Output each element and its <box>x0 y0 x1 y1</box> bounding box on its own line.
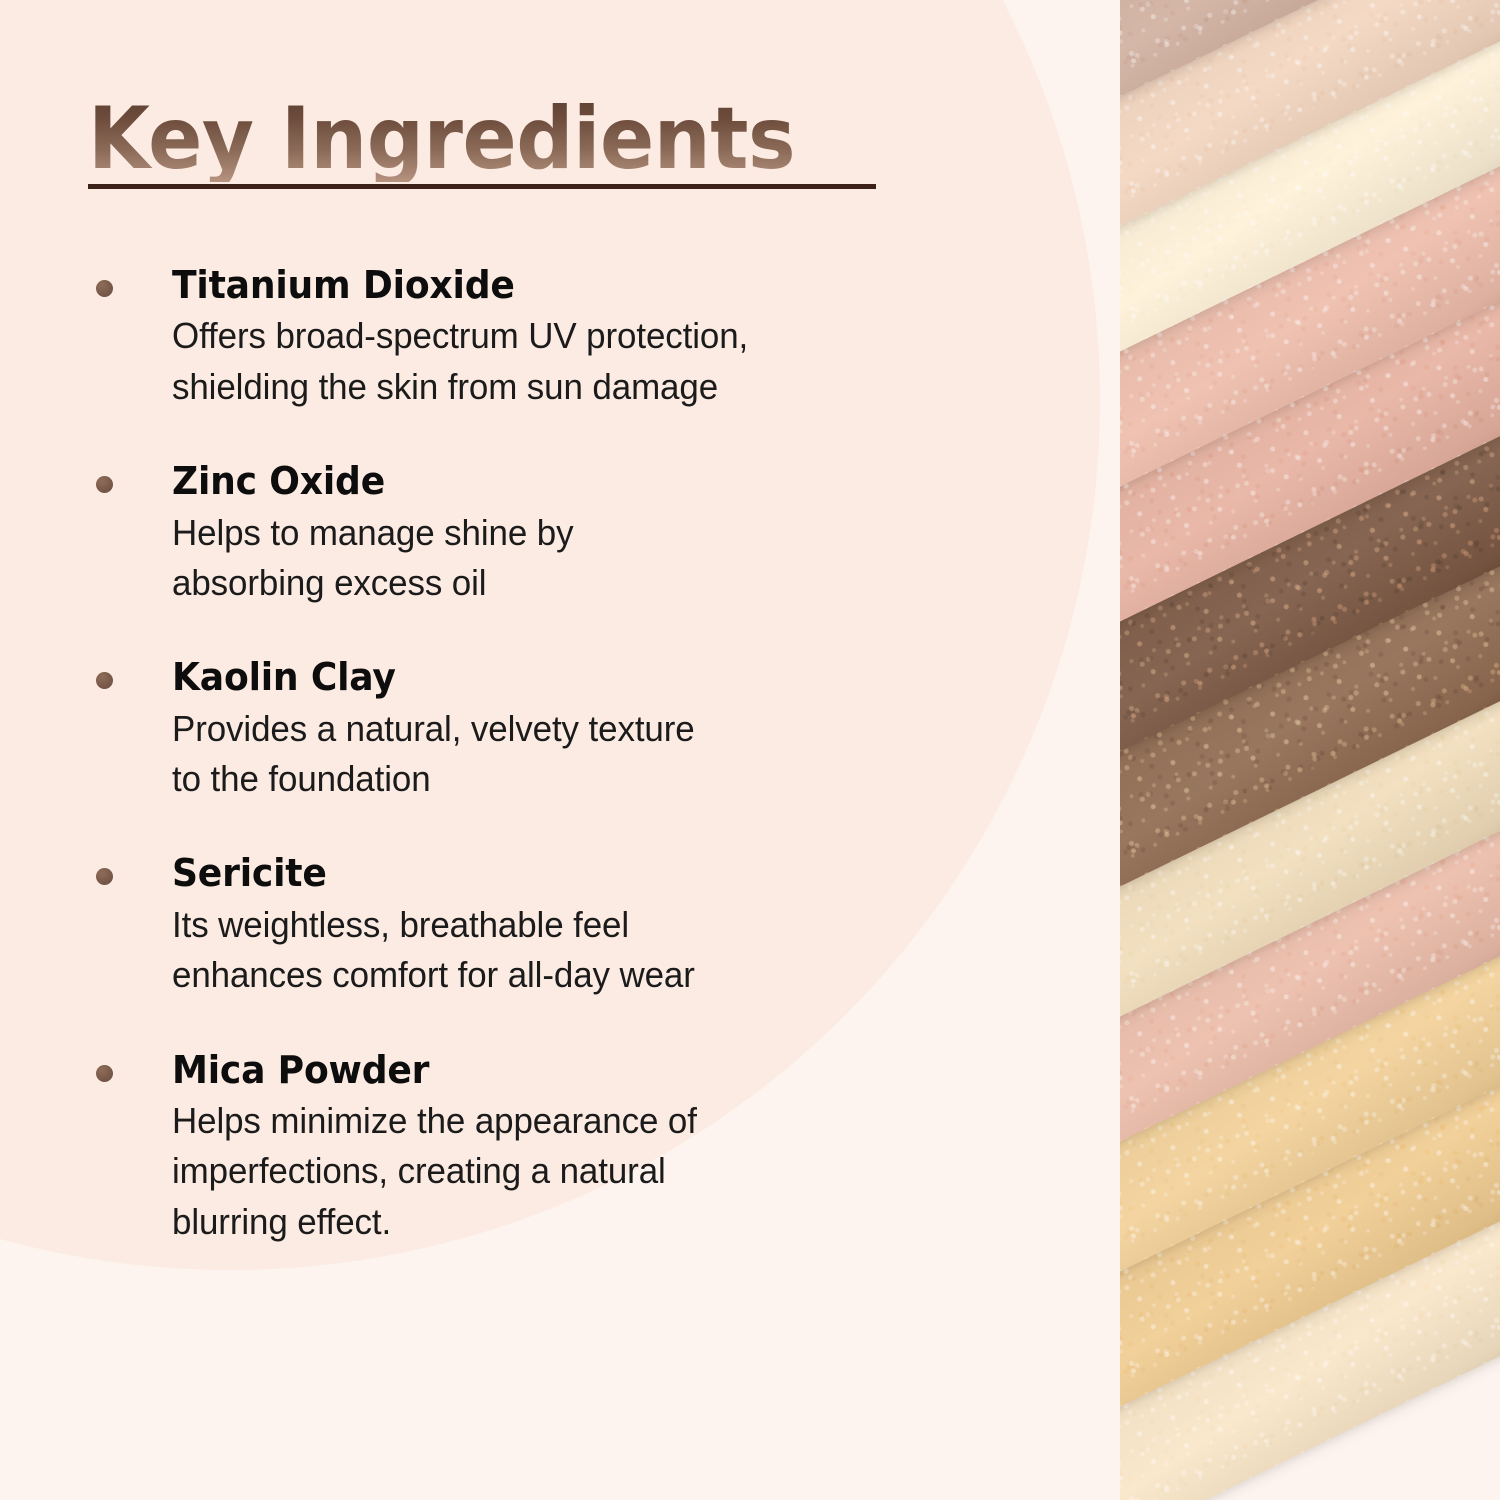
ingredient-name: Titanium Dioxide <box>172 262 932 308</box>
bullet-dot-icon <box>96 672 113 689</box>
ingredient-description: Helps minimize the appearance of imperfe… <box>172 1096 948 1247</box>
page-title: Key Ingredients <box>88 96 832 182</box>
ingredient-description: Provides a natural, velvety texture to t… <box>172 704 948 805</box>
ingredient-item: Zinc OxideHelps to manage shine by absor… <box>92 458 972 608</box>
ingredient-item: Mica PowderHelps minimize the appearance… <box>92 1047 972 1248</box>
ingredient-name: Mica Powder <box>172 1047 932 1093</box>
page-title-wrap: Key Ingredients <box>88 96 888 182</box>
ingredient-description: Helps to manage shine by absorbing exces… <box>172 508 948 609</box>
powder-swatch-image <box>1120 0 1500 1500</box>
ingredient-description: Its weightless, breathable feel enhances… <box>172 900 948 1001</box>
bullet-dot-icon <box>96 868 113 885</box>
ingredient-item: Titanium DioxideOffers broad-spectrum UV… <box>92 262 972 412</box>
page-title-underline <box>88 184 876 189</box>
ingredients-list: Titanium DioxideOffers broad-spectrum UV… <box>92 262 972 1247</box>
ingredient-item: Kaolin ClayProvides a natural, velvety t… <box>92 654 972 804</box>
ingredient-name: Kaolin Clay <box>172 654 932 700</box>
ingredient-item: SericiteIts weightless, breathable feel … <box>92 850 972 1000</box>
bullet-dot-icon <box>96 1065 113 1082</box>
bullet-dot-icon <box>96 476 113 493</box>
ingredient-name: Zinc Oxide <box>172 458 932 504</box>
bullet-dot-icon <box>96 280 113 297</box>
ingredient-description: Offers broad-spectrum UV protection, shi… <box>172 311 948 412</box>
infographic-canvas: Key Ingredients Titanium DioxideOffers b… <box>0 0 1500 1500</box>
ingredient-name: Sericite <box>172 850 932 896</box>
